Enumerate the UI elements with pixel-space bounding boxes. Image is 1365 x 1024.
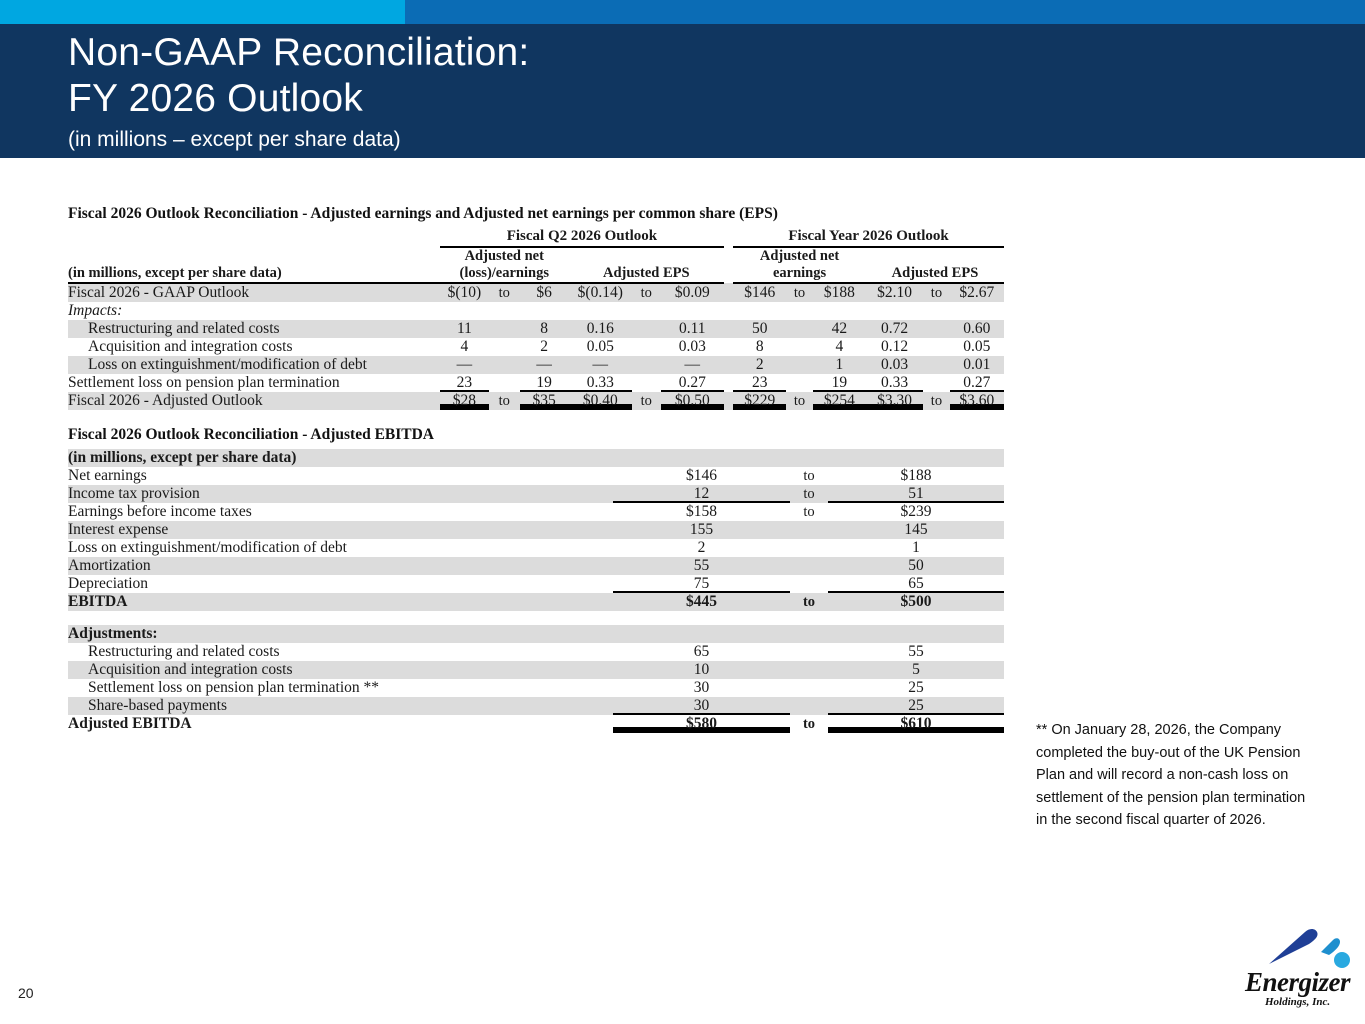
cell-value-high: 42 — [813, 320, 866, 338]
cell-range-connector — [923, 302, 950, 320]
page-subtitle: (in millions – except per share data) — [68, 128, 401, 152]
group-header-q2: Fiscal Q2 2026 Outlook — [440, 228, 724, 245]
table-row: Settlement loss on pension plan terminat… — [68, 679, 1004, 697]
cell-value-high: $188 — [828, 467, 1004, 485]
col-header-fy-adjusted-eps: Adjusted EPS — [866, 248, 1004, 283]
cell-range-connector: to — [786, 392, 813, 410]
table1-caption: Fiscal 2026 Outlook Reconciliation - Adj… — [68, 203, 1004, 228]
cell-value-low: $229 — [733, 392, 786, 410]
cell-value-low — [440, 302, 489, 320]
row-label: Loss on extinguishment/modification of d… — [68, 356, 440, 374]
cell-range-connector: to — [489, 392, 520, 410]
row-label: Net earnings — [68, 467, 613, 485]
table-row: Restructuring and related costs6555 — [68, 643, 1004, 661]
table-row: Share-based payments3025 — [68, 697, 1004, 715]
cell-value-high: 0.03 — [661, 338, 724, 356]
cell-range-connector — [489, 302, 520, 320]
cell-value-low: $28 — [440, 392, 489, 410]
column-gap — [724, 320, 733, 338]
cell-value-high: 5 — [828, 661, 1004, 679]
table-row: Settlement loss on pension plan terminat… — [68, 374, 1004, 392]
cell-value-high: $2.67 — [950, 283, 1004, 302]
cell-value-low — [733, 302, 786, 320]
cell-range-connector — [632, 374, 661, 392]
cell-range-connector — [790, 521, 828, 539]
column-gap — [724, 374, 733, 392]
cell-value-low: 10 — [613, 661, 790, 679]
cell-value-high: 0.27 — [950, 374, 1004, 392]
row-label: Amortization — [68, 557, 613, 575]
cell-value-low: 11 — [440, 320, 489, 338]
col-header-fy-net-line2: earnings — [773, 265, 826, 281]
cell-value-high: 50 — [828, 557, 1004, 575]
cell-range-connector — [790, 643, 828, 661]
cell-value-high: $610 — [828, 715, 1004, 733]
table-row: Income tax provision12to51 — [68, 485, 1004, 503]
cell-range-connector — [489, 374, 520, 392]
cell-range-connector — [632, 338, 661, 356]
cell-value-low: 0.05 — [569, 338, 632, 356]
cell-value-low: $445 — [613, 593, 790, 611]
cell-range-connector — [786, 374, 813, 392]
cell-value-high: $500 — [828, 593, 1004, 611]
column-gap — [724, 302, 733, 320]
cell-value-high: $0.50 — [661, 392, 724, 410]
cell-value-high: 0.60 — [950, 320, 1004, 338]
table-row: Net earnings$146to$188 — [68, 467, 1004, 485]
group-header-fy: Fiscal Year 2026 Outlook — [733, 228, 1004, 245]
top-band-light-blue — [0, 0, 405, 24]
cell-value-high: 145 — [828, 521, 1004, 539]
table2-stub-header-row: (in millions, except per share data) — [68, 449, 1004, 467]
cell-value-low: 4 — [440, 338, 489, 356]
cell-range-connector — [489, 320, 520, 338]
pension-footnote: ** On January 28, 2026, the Company comp… — [1036, 719, 1316, 832]
row-label: Restructuring and related costs — [68, 643, 613, 661]
row-label: Settlement loss on pension plan terminat… — [68, 679, 613, 697]
cell-range-connector — [632, 302, 661, 320]
cell-value-low: 12 — [613, 485, 790, 503]
cell-range-connector: to — [923, 283, 950, 302]
table-row: Depreciation7565 — [68, 575, 1004, 593]
cell-value-low: 55 — [613, 557, 790, 575]
page-title-line-1: Non-GAAP Reconciliation: — [68, 30, 529, 76]
cell-value-high: 25 — [828, 679, 1004, 697]
table1-column-header-row: (in millions, except per share data) Adj… — [68, 248, 1004, 283]
table-row: Fiscal 2026 - GAAP Outlook$(10)to$6$(0.1… — [68, 283, 1004, 302]
top-color-band — [0, 0, 1365, 24]
table1-body: Fiscal 2026 - GAAP Outlook$(10)to$6$(0.1… — [68, 283, 1004, 410]
cell-value-low: 155 — [613, 521, 790, 539]
cell-value-high: 2 — [520, 338, 569, 356]
column-gap — [724, 338, 733, 356]
table1-stub-header: (in millions, except per share data) — [68, 248, 440, 283]
table-row: Impacts: — [68, 302, 1004, 320]
cell-value-low — [866, 302, 923, 320]
cell-value-high: 1 — [828, 539, 1004, 557]
slide-title-block: Non-GAAP Reconciliation: FY 2026 Outlook… — [0, 24, 1365, 158]
table-row: Acquisition and integration costs420.050… — [68, 338, 1004, 356]
cell-value-high: 55 — [828, 643, 1004, 661]
row-label: Acquisition and integration costs — [68, 661, 613, 679]
cell-value-low: $158 — [613, 503, 790, 521]
cell-value-high: $254 — [813, 392, 866, 410]
cell-value-low: 0.16 — [569, 320, 632, 338]
table-row: Fiscal 2026 - Adjusted Outlook$28to$35$0… — [68, 392, 1004, 410]
cell-value-high: 65 — [828, 575, 1004, 593]
cell-range-connector — [786, 302, 813, 320]
row-label: Fiscal 2026 - GAAP Outlook — [68, 283, 440, 302]
cell-value-low: — — [440, 356, 489, 374]
cell-value-low: 30 — [613, 679, 790, 697]
cell-value-low: $580 — [613, 715, 790, 733]
table2-caption: Fiscal 2026 Outlook Reconciliation - Adj… — [68, 410, 1004, 449]
row-label: Adjusted EBITDA — [68, 715, 613, 733]
top-band-dark-blue — [405, 0, 1365, 24]
col-header-fy-adjusted-net: Adjusted net earnings — [733, 248, 866, 283]
table2-adjustments-body: Restructuring and related costs6555Acqui… — [68, 643, 1004, 733]
table-row: Adjusted EBITDA$580to$610 — [68, 715, 1004, 733]
cell-range-connector — [489, 338, 520, 356]
cell-range-connector: to — [790, 715, 828, 733]
cell-range-connector — [923, 338, 950, 356]
col-header-q2-net-line2: (loss)/earnings — [460, 265, 549, 281]
cell-value-high: 25 — [828, 697, 1004, 715]
col-header-q2-net-line1: Adjusted net — [465, 248, 544, 264]
cell-value-high — [520, 302, 569, 320]
energizer-logo: Energizer Holdings, Inc. — [1243, 922, 1355, 1014]
table-row: Restructuring and related costs1180.160.… — [68, 320, 1004, 338]
cell-range-connector: to — [790, 503, 828, 521]
table-row: Acquisition and integration costs105 — [68, 661, 1004, 679]
cell-value-low: 2 — [613, 539, 790, 557]
cell-value-low: 75 — [613, 575, 790, 593]
cell-value-low: $(10) — [440, 283, 489, 302]
cell-range-connector: to — [923, 392, 950, 410]
cell-value-high: 51 — [828, 485, 1004, 503]
adjustments-header-row: Adjustments: — [68, 625, 1004, 643]
cell-value-low: 30 — [613, 697, 790, 715]
energizer-holdings-subtext: Holdings, Inc. — [1265, 996, 1330, 1008]
cell-value-low: 0.72 — [866, 320, 923, 338]
col-header-fy-net-line1: Adjusted net — [760, 248, 839, 264]
cell-value-high: 0.01 — [950, 356, 1004, 374]
cell-value-low: $0.40 — [569, 392, 632, 410]
cell-range-connector: to — [790, 467, 828, 485]
row-label: Restructuring and related costs — [68, 320, 440, 338]
cell-value-high — [950, 302, 1004, 320]
table1-group-header-row: Fiscal Q2 2026 Outlook Fiscal Year 2026 … — [68, 228, 1004, 245]
cell-value-low: $3.30 — [866, 392, 923, 410]
cell-value-high: 0.11 — [661, 320, 724, 338]
cell-value-high: 4 — [813, 338, 866, 356]
cell-value-high: 0.27 — [661, 374, 724, 392]
cell-range-connector — [489, 356, 520, 374]
row-label: Depreciation — [68, 575, 613, 593]
reconciliation-sheet: Fiscal 2026 Outlook Reconciliation - Adj… — [68, 203, 1004, 733]
cell-value-high: 1 — [813, 356, 866, 374]
cell-value-low: $(0.14) — [569, 283, 632, 302]
row-label: Share-based payments — [68, 697, 613, 715]
cell-range-connector — [786, 320, 813, 338]
cell-value-high: $3.60 — [950, 392, 1004, 410]
table2-body: Net earnings$146to$188Income tax provisi… — [68, 467, 1004, 611]
cell-value-high: 19 — [520, 374, 569, 392]
cell-value-high — [813, 302, 866, 320]
cell-range-connector — [790, 679, 828, 697]
eps-reconciliation-table: Fiscal Q2 2026 Outlook Fiscal Year 2026 … — [68, 228, 1004, 410]
page-title-line-2: FY 2026 Outlook — [68, 76, 363, 122]
row-label: Loss on extinguishment/modification of d… — [68, 539, 613, 557]
row-label: Impacts: — [68, 302, 440, 320]
col-header-q2-adjusted-net: Adjusted net (loss)/earnings — [440, 248, 569, 283]
table2-spacer-row — [68, 611, 1004, 625]
cell-value-low: 2 — [733, 356, 786, 374]
cell-value-high: $188 — [813, 283, 866, 302]
cell-value-high: $239 — [828, 503, 1004, 521]
cell-value-high: 0.05 — [950, 338, 1004, 356]
cell-value-low: 8 — [733, 338, 786, 356]
cell-value-low: 65 — [613, 643, 790, 661]
row-label: Acquisition and integration costs — [68, 338, 440, 356]
row-label: Fiscal 2026 - Adjusted Outlook — [68, 392, 440, 410]
cell-range-connector — [790, 557, 828, 575]
cell-range-connector: to — [489, 283, 520, 302]
cell-range-connector — [790, 539, 828, 557]
cell-value-low: 23 — [440, 374, 489, 392]
cell-value-low: $146 — [613, 467, 790, 485]
col-header-q2-adjusted-eps: Adjusted EPS — [569, 248, 724, 283]
cell-value-low: $2.10 — [866, 283, 923, 302]
energizer-wordmark: Energizer — [1245, 968, 1355, 996]
cell-value-low: 0.03 — [866, 356, 923, 374]
cell-value-low: — — [569, 356, 632, 374]
cell-range-connector — [790, 697, 828, 715]
cell-value-low: 0.12 — [866, 338, 923, 356]
cell-range-connector — [923, 356, 950, 374]
page-number: 20 — [18, 985, 34, 1001]
cell-value-high — [661, 302, 724, 320]
energizer-spark-icon — [1243, 922, 1355, 972]
cell-value-high: 19 — [813, 374, 866, 392]
cell-value-low: 0.33 — [866, 374, 923, 392]
column-gap — [724, 283, 733, 302]
cell-range-connector — [632, 320, 661, 338]
row-label: Interest expense — [68, 521, 613, 539]
table-row: EBITDA$445to$500 — [68, 593, 1004, 611]
cell-value-high: $6 — [520, 283, 569, 302]
cell-range-connector — [786, 338, 813, 356]
cell-range-connector: to — [790, 593, 828, 611]
cell-range-connector — [790, 575, 828, 593]
table-row: Amortization5550 — [68, 557, 1004, 575]
cell-range-connector: to — [632, 392, 661, 410]
cell-value-high: $0.09 — [661, 283, 724, 302]
cell-value-high: — — [661, 356, 724, 374]
cell-range-connector — [632, 356, 661, 374]
row-label: Income tax provision — [68, 485, 613, 503]
row-label: Earnings before income taxes — [68, 503, 613, 521]
cell-value-high: $35 — [520, 392, 569, 410]
cell-range-connector — [786, 356, 813, 374]
column-gap — [724, 356, 733, 374]
ebitda-reconciliation-table: (in millions, except per share data) Net… — [68, 449, 1004, 733]
cell-range-connector — [923, 374, 950, 392]
adjustments-header: Adjustments: — [68, 625, 613, 643]
row-label: EBITDA — [68, 593, 613, 611]
cell-range-connector: to — [786, 283, 813, 302]
cell-value-low: $146 — [733, 283, 786, 302]
row-label: Settlement loss on pension plan terminat… — [68, 374, 440, 392]
cell-range-connector: to — [632, 283, 661, 302]
cell-value-low: 23 — [733, 374, 786, 392]
cell-value-low: 50 — [733, 320, 786, 338]
cell-range-connector — [923, 320, 950, 338]
column-gap — [724, 392, 733, 410]
cell-value-low: 0.33 — [569, 374, 632, 392]
cell-range-connector: to — [790, 485, 828, 503]
table-row: Loss on extinguishment/modification of d… — [68, 356, 1004, 374]
table-row: Earnings before income taxes$158to$239 — [68, 503, 1004, 521]
cell-value-low — [569, 302, 632, 320]
table2-stub-header: (in millions, except per share data) — [68, 449, 613, 467]
table-row: Interest expense155145 — [68, 521, 1004, 539]
cell-range-connector — [790, 661, 828, 679]
cell-value-high: — — [520, 356, 569, 374]
table-row: Loss on extinguishment/modification of d… — [68, 539, 1004, 557]
cell-value-high: 8 — [520, 320, 569, 338]
